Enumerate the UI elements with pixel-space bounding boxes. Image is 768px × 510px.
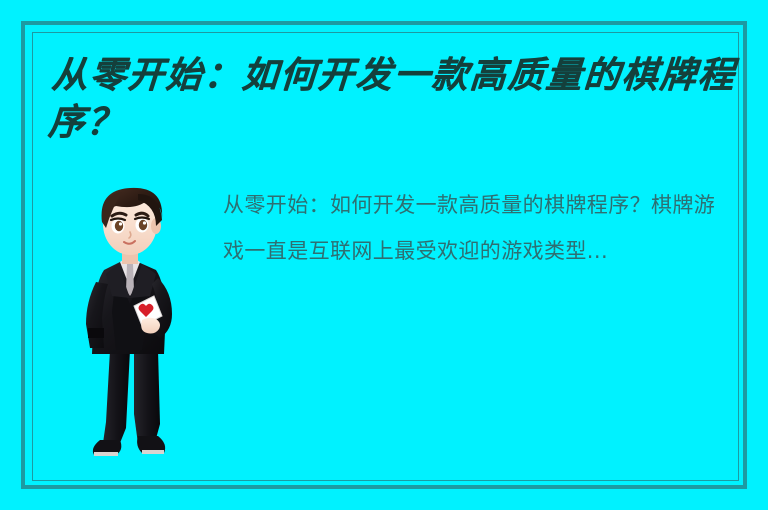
page-title: 从零开始：如何开发一款高质量的棋牌程序？ [47,52,744,146]
left-eye-glint [119,222,122,225]
poster-canvas: 从零开始：如何开发一款高质量的棋牌程序？ [0,0,768,510]
right-hand [141,318,160,334]
man-in-suit-icon [72,178,198,473]
left-leg [102,350,130,450]
right-eye-glint [143,221,146,224]
body-text: 从零开始：如何开发一款高质量的棋牌程序？棋牌游戏一直是互联网上最受欢迎的游戏类型… [223,182,723,274]
pocket [88,328,104,338]
right-leg [134,350,160,446]
left-shoe-sole [94,452,118,456]
left-iris [115,221,123,231]
right-iris [139,220,147,230]
character-illustration [72,178,198,473]
right-shoe-sole [142,450,164,454]
